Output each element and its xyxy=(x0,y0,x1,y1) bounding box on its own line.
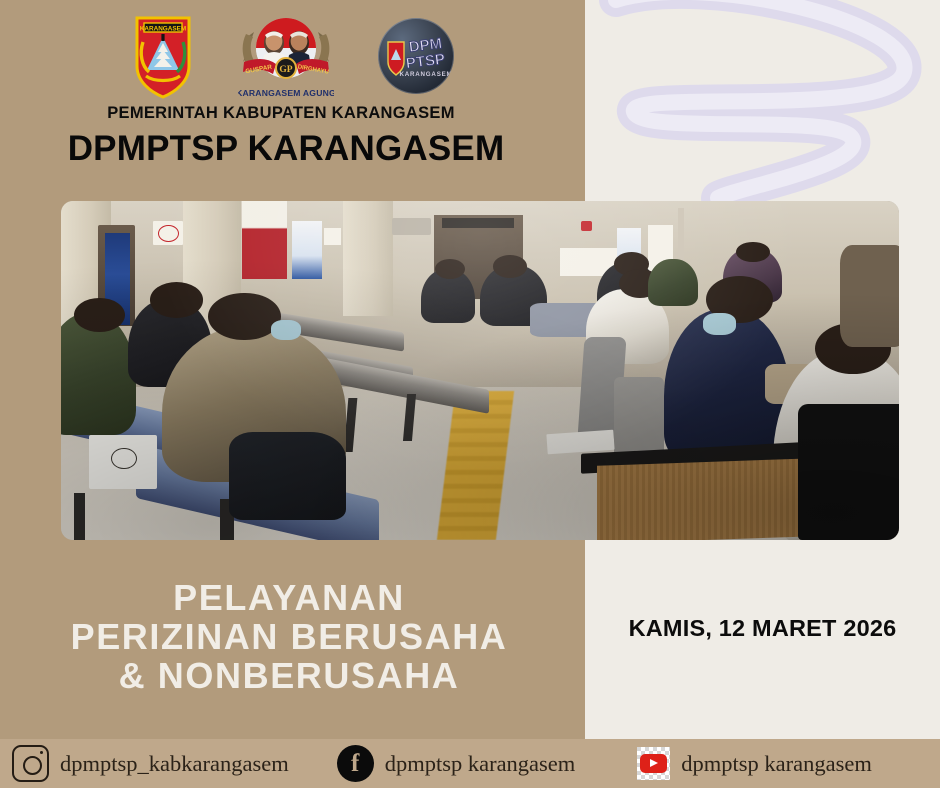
agung-monogram: GP xyxy=(279,65,292,75)
logo-karangasem-agung: GUSPAR DIRGHAYU GP KARANGASEM AGUNG xyxy=(238,12,334,100)
office-name-title: DPMPTSP KARANGASEM xyxy=(0,129,572,169)
photo-vignette xyxy=(61,201,899,540)
youtube-icon-backdrop xyxy=(637,747,670,780)
service-photo xyxy=(61,201,899,540)
main-title-line-3: & NONBERUSAHA xyxy=(0,656,578,695)
dpm-logo-line2: PTSP xyxy=(404,50,445,72)
logo-dpmptsp-round: DPM PTSP KARANGASEM xyxy=(378,18,454,94)
youtube-handle: dpmptsp karangasem xyxy=(681,751,872,777)
instagram-handle: dpmptsp_kabkarangasem xyxy=(60,751,289,777)
social-facebook[interactable]: f dpmptsp karangasem xyxy=(337,745,576,782)
facebook-icon[interactable]: f xyxy=(337,745,374,782)
instagram-icon[interactable] xyxy=(12,745,49,782)
event-date: KAMIS, 12 MARET 2026 xyxy=(585,615,940,642)
logo-karangasem-crest: KARANGASEM xyxy=(132,12,194,100)
main-title-line-1: PELAYANAN xyxy=(0,578,578,617)
dpm-logo-line3: KARANGASEM xyxy=(399,71,452,78)
poster-canvas: KARANGASEM xyxy=(0,0,940,788)
main-title-block: PELAYANAN PERIZINAN BERUSAHA & NONBERUSA… xyxy=(0,578,578,695)
social-youtube[interactable]: dpmptsp karangasem xyxy=(637,747,872,780)
social-instagram[interactable]: dpmptsp_kabkarangasem xyxy=(12,745,289,782)
facebook-handle: dpmptsp karangasem xyxy=(385,751,576,777)
government-line: PEMERINTAH KABUPATEN KARANGASEM xyxy=(0,104,562,123)
facebook-glyph: f xyxy=(337,751,374,776)
crest-banner-text: KARANGASEM xyxy=(139,25,186,32)
karangasem-crest-icon: KARANGASEM xyxy=(132,12,194,100)
youtube-icon[interactable] xyxy=(640,754,667,773)
social-footer: dpmptsp_kabkarangasem f dpmptsp karangas… xyxy=(0,739,940,788)
karangasem-agung-icon: GUSPAR DIRGHAYU GP KARANGASEM AGUNG xyxy=(238,12,334,100)
dpmptsp-round-icon: DPM PTSP KARANGASEM xyxy=(378,18,454,94)
main-title-line-2: PERIZINAN BERUSAHA xyxy=(0,617,578,656)
agung-caption: KARANGASEM AGUNG xyxy=(238,88,334,98)
logo-row: KARANGASEM xyxy=(0,8,585,103)
